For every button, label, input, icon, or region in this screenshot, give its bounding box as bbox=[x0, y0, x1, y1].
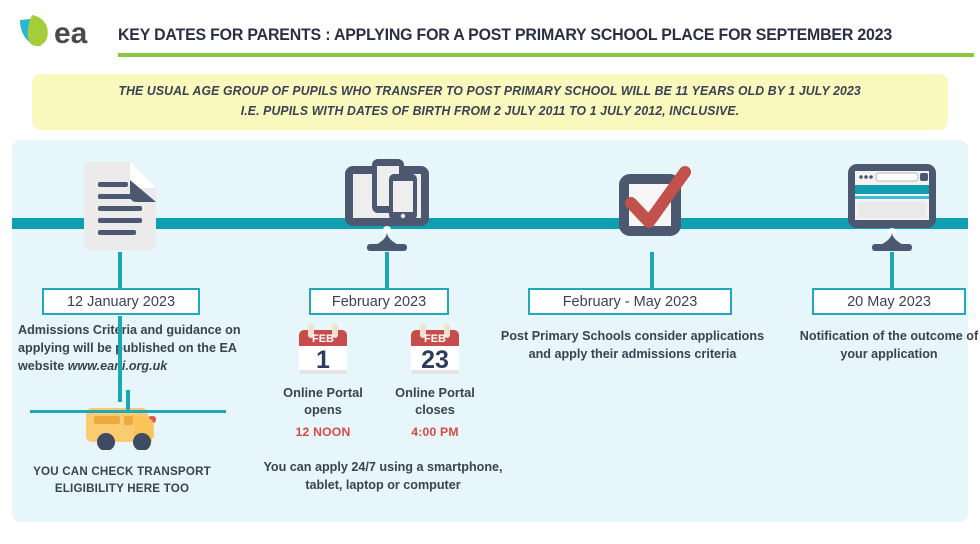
calendar-month-label: FEB bbox=[424, 333, 446, 345]
devices-monitor-tablet-phone-icon bbox=[302, 156, 472, 252]
ea-leaf-logo: ea bbox=[14, 10, 114, 52]
logo-text: ea bbox=[54, 17, 88, 50]
calendar-day-label: 1 bbox=[316, 346, 330, 374]
timeline-node-1 bbox=[40, 156, 200, 252]
node-4-description: Notification of the outcome of your appl… bbox=[794, 328, 980, 364]
timeline-panel: 12 January 2023 February 2023 February -… bbox=[12, 140, 968, 522]
header: ea KEY DATES FOR PARENTS : APPLYING FOR … bbox=[0, 0, 980, 62]
note-line-2: I.E. PUPILS WITH DATES OF BIRTH FROM 2 J… bbox=[241, 102, 740, 122]
portal-footnote: You can apply 24/7 using a smartphone, t… bbox=[260, 458, 506, 495]
portal-open-time: 12 NOON bbox=[268, 425, 378, 439]
timeline-node-3 bbox=[572, 156, 732, 252]
node-1-description: Admissions Criteria and guidance on appl… bbox=[18, 322, 243, 376]
date-badge-4: 20 May 2023 bbox=[812, 288, 966, 315]
date-badge-1: 12 January 2023 bbox=[42, 288, 200, 315]
portal-underline bbox=[30, 410, 226, 413]
calendar-month-label: FEB bbox=[312, 333, 334, 345]
node-3-description: Post Primary Schools consider applicatio… bbox=[490, 328, 775, 364]
portal-close-time: 4:00 PM bbox=[380, 425, 490, 439]
calendar-icon: FEB 23 bbox=[407, 322, 463, 378]
transport-caption: YOU CAN CHECK TRANSPORT ELIGIBILITY HERE… bbox=[22, 464, 222, 498]
portal-open-label: Online Portal opens bbox=[268, 385, 378, 419]
calendar-day-label: 23 bbox=[421, 346, 449, 374]
portal-calendar-open: FEB 1 Online Portal opens 12 NOON bbox=[268, 322, 378, 439]
document-icon bbox=[40, 156, 200, 252]
page-title-text: KEY DATES FOR PARENTS : APPLYING FOR A P… bbox=[118, 26, 944, 45]
transport-stem bbox=[118, 316, 122, 402]
age-group-note: THE USUAL AGE GROUP OF PUPILS WHO TRANSF… bbox=[32, 74, 948, 130]
portal-calendar-close: FEB 23 Online Portal closes 4:00 PM bbox=[380, 322, 490, 439]
timeline-node-4 bbox=[812, 156, 972, 252]
portal-close-label: Online Portal closes bbox=[380, 385, 490, 419]
date-badge-3: February - May 2023 bbox=[528, 288, 732, 315]
page-title: KEY DATES FOR PARENTS : APPLYING FOR A P… bbox=[118, 26, 974, 45]
portal-divider-stem bbox=[126, 390, 130, 410]
portal-calendars: FEB 1 Online Portal opens 12 NOON FEB bbox=[268, 322, 498, 452]
infographic-page: ea KEY DATES FOR PARENTS : APPLYING FOR … bbox=[0, 0, 980, 544]
note-line-1: THE USUAL AGE GROUP OF PUPILS WHO TRANSF… bbox=[119, 82, 861, 102]
calendar-icon: FEB 1 bbox=[295, 322, 351, 378]
date-badge-2: February 2023 bbox=[309, 288, 449, 315]
title-underline-rule bbox=[118, 53, 974, 57]
checkbox-tick-icon bbox=[572, 156, 732, 252]
monitor-browser-icon bbox=[812, 156, 972, 252]
timeline-node-2 bbox=[302, 156, 472, 252]
